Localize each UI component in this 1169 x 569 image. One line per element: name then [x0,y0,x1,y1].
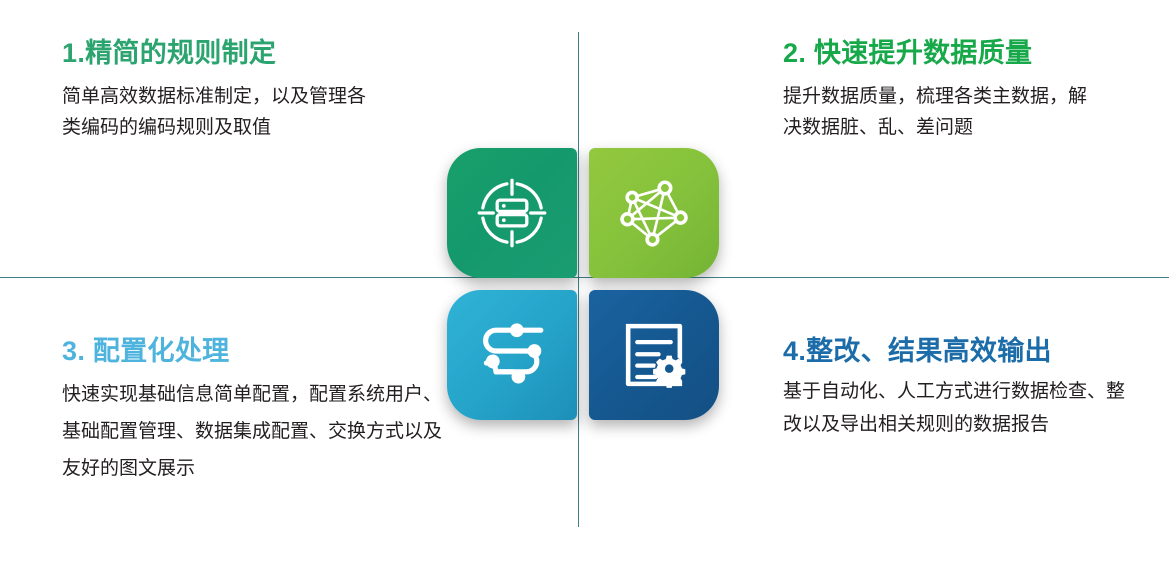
tile-config[interactable] [447,290,577,420]
network-graph-icon [615,174,693,252]
center-icon-cluster [447,148,719,420]
workflow-path-icon [472,319,552,391]
tile-report[interactable] [589,290,719,420]
quadrant-report-heading: 4.整改、结果高效输出 [783,336,1148,366]
quadrant-quality: 2. 快速提升数据质量 提升数据质量，梳理各类主数据，解决数据脏、乱、差问题 [783,38,1123,144]
quadrant-report-body: 基于自动化、人工方式进行数据检查、整改以及导出相关规则的数据报告 [783,376,1133,441]
quadrant-report: 4.整改、结果高效输出 基于自动化、人工方式进行数据检查、整改以及导出相关规则的… [783,336,1148,442]
target-database-icon [473,174,551,252]
quadrant-standard-heading: 1.精简的规则制定 [62,38,392,68]
quadrant-standard-body: 简单高效数据标准制定，以及管理各类编码的编码规则及取值 [62,82,380,144]
quadrant-standard: 1.精简的规则制定 简单高效数据标准制定，以及管理各类编码的编码规则及取值 [62,38,392,144]
quadrant-config-body: 快速实现基础信息简单配置，配置系统用户、基础配置管理、数据集成配置、交换方式以及… [62,376,442,487]
quadrant-quality-heading: 2. 快速提升数据质量 [783,38,1123,68]
tile-quality[interactable] [589,148,719,278]
quadrant-quality-body: 提升数据质量，梳理各类主数据，解决数据脏、乱、差问题 [783,82,1095,144]
document-gear-icon [616,317,692,393]
quadrant-config-heading: 3. 配置化处理 [62,336,454,366]
tile-standard[interactable] [447,148,577,278]
quadrant-config: 3. 配置化处理 快速实现基础信息简单配置，配置系统用户、基础配置管理、数据集成… [62,336,454,487]
